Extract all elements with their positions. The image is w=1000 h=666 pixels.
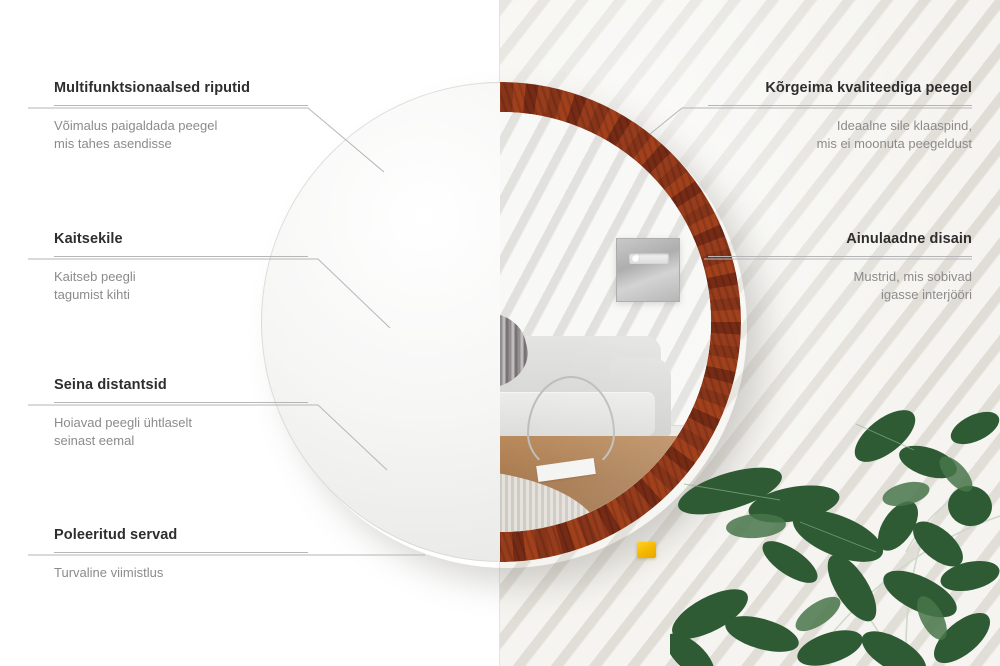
wall-spacer-block [637,542,656,558]
callout-wall-spacers: Seina distantsid Hoiavad peegli ühtlasel… [54,377,308,450]
callout-body: Võimalus paigaldada peegel mis tahes ase… [54,117,308,153]
callout-body: Kaitseb peegli tagumist kihti [54,268,308,304]
callout-rule [708,105,972,106]
callout-rule [54,552,308,553]
callout-body: Mustrid, mis sobivad igasse interjööri [708,268,972,304]
callout-rule [54,105,308,106]
callout-title: Kõrgeima kvaliteediga peegel [708,80,972,96]
callout-title: Poleeritud servad [54,527,308,543]
callout-multifunctional-hangers: Multifunktsionaalsed riputid Võimalus pa… [54,80,308,153]
callout-body: Turvaline viimistlus [54,564,308,582]
callout-rule [54,256,308,257]
callout-title: Ainulaadne disain [708,231,972,247]
callout-title: Seina distantsid [54,377,308,393]
callout-title: Multifunktsionaalsed riputid [54,80,308,96]
callout-title: Kaitsekile [54,231,308,247]
callout-body: Hoiavad peegli ühtlaselt seinast eemal [54,414,308,450]
keyhole-slot-icon [629,253,669,264]
callout-body: Ideaalne sile klaaspind, mis ei moonuta … [708,117,972,153]
callout-unique-design: Ainulaadne disain Mustrid, mis sobivad i… [708,231,972,304]
infographic-canvas: Multifunktsionaalsed riputid Võimalus pa… [0,0,1000,666]
callout-highest-quality-mirror: Kõrgeima kvaliteediga peegel Ideaalne si… [708,80,972,153]
callout-polished-edges: Poleeritud servad Turvaline viimistlus [54,527,308,582]
callout-rule [54,402,308,403]
foliage-decoration [670,366,1000,666]
mirror-hanger-plate [616,238,680,302]
callout-protective-film: Kaitsekile Kaitseb peegli tagumist kihti [54,231,308,304]
callout-rule [708,256,972,257]
